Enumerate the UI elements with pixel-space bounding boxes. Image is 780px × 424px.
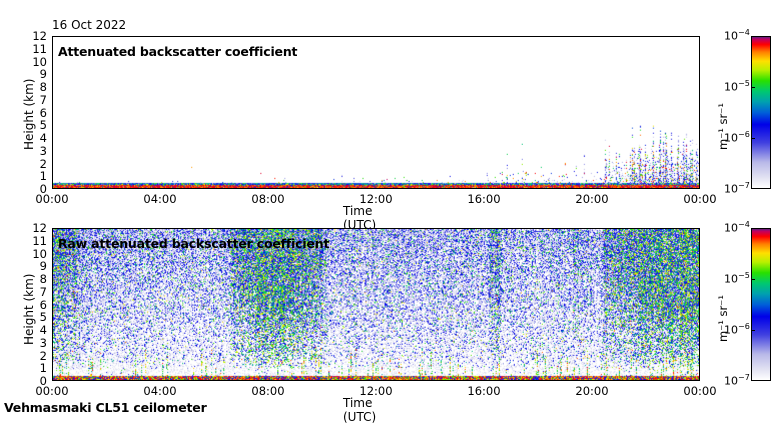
colorbar-tick-label: 10−4	[724, 220, 748, 235]
colorbar-top-bar[interactable]	[751, 36, 771, 189]
colorbar-tick-label: 10−5	[724, 79, 748, 94]
y-tick-label: 2	[20, 157, 47, 171]
y-tick-label: 11	[20, 42, 47, 56]
colorbar-tick-label: 10−5	[724, 271, 748, 286]
y-tick-label: 4	[20, 131, 47, 145]
y-tick-label: 1	[20, 169, 47, 183]
y-tick-label: 9	[20, 259, 47, 273]
y-tick-label: 5	[20, 310, 47, 324]
x-tick-label: 16:00	[467, 384, 500, 398]
x-tick-label: 00:00	[683, 384, 716, 398]
colorbar-tick-label: 10−6	[724, 322, 748, 337]
colorbar-bottom-bar[interactable]	[751, 228, 771, 381]
top-heatmap-canvas[interactable]	[53, 37, 699, 188]
colorbar-tick-mark	[751, 87, 755, 88]
y-tick-label: 1	[20, 361, 47, 375]
colorbar-tick-label: 10−7	[724, 373, 748, 388]
y-tick-label: 2	[20, 349, 47, 363]
y-tick-label: 7	[20, 93, 47, 107]
y-tick-label: 8	[20, 80, 47, 94]
bottom-panel-title: Raw attenuated backscatter coefficient	[58, 236, 329, 251]
y-tick-label: 6	[20, 298, 47, 312]
y-tick-label: 8	[20, 272, 47, 286]
x-tick-label: 08:00	[251, 384, 284, 398]
x-tick-label: 00:00	[683, 192, 716, 206]
colorbar-tick-mark	[751, 279, 755, 280]
colorbar-tick-mark	[751, 330, 755, 331]
y-tick-label: 10	[20, 247, 47, 261]
x-tick-label: 04:00	[143, 384, 176, 398]
top-panel-title: Attenuated backscatter coefficient	[58, 44, 297, 59]
y-tick-label: 6	[20, 106, 47, 120]
y-tick-label: 11	[20, 234, 47, 248]
y-tick-label: 9	[20, 67, 47, 81]
y-tick-label: 12	[20, 29, 47, 43]
y-tick-label: 4	[20, 323, 47, 337]
x-tick-label: 00:00	[35, 192, 68, 206]
colorbar-tick-label: 10−4	[724, 28, 748, 43]
x-tick-label: 20:00	[575, 384, 608, 398]
colorbar-tick-label: 10−6	[724, 130, 748, 145]
bottom-heatmap-canvas[interactable]	[53, 229, 699, 380]
y-tick-label: 3	[20, 144, 47, 158]
y-tick-label: 5	[20, 118, 47, 132]
y-tick-label: 10	[20, 55, 47, 69]
y-tick-label: 12	[20, 221, 47, 235]
x-tick-label: 16:00	[467, 192, 500, 206]
x-tick-label: 04:00	[143, 192, 176, 206]
y-tick-label: 3	[20, 336, 47, 350]
figure-caption: Vehmasmaki CL51 ceilometer	[4, 400, 207, 415]
date-label: 16 Oct 2022	[52, 18, 126, 32]
colorbar-tick-mark	[751, 138, 755, 139]
colorbar-tick-label: 10−7	[724, 181, 748, 196]
x-tick-label: 20:00	[575, 192, 608, 206]
x-tick-label: 08:00	[251, 192, 284, 206]
x-tick-label: 00:00	[35, 384, 68, 398]
y-tick-label: 7	[20, 285, 47, 299]
